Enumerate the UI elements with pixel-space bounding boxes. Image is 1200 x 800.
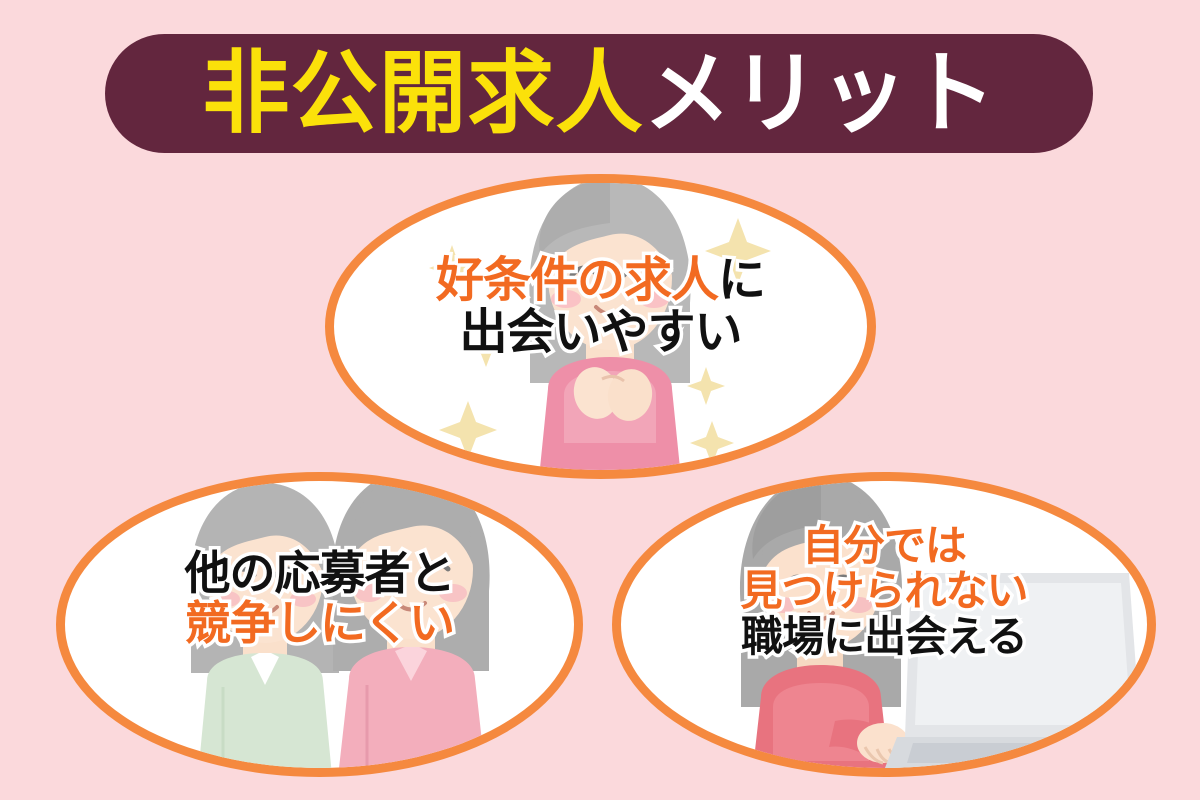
caption-line-2: 出会いやすい: [334, 307, 867, 359]
benefit-card-less-competition: 他の応募者と 競争しにくい: [56, 472, 583, 777]
caption-segment-orange: 自分では: [802, 522, 966, 569]
infographic-canvas: 非公開求人メリット: [0, 0, 1200, 800]
caption-segment-black: 出会いやすい: [459, 306, 741, 359]
caption-line-2: 見つけられない: [621, 568, 1147, 613]
caption-line-3: 職場に出会える: [621, 614, 1147, 659]
title-banner: 非公開求人メリット: [105, 34, 1093, 153]
caption-segment-black: 職場に出会える: [741, 613, 1027, 660]
page-title-primary: 非公開求人: [202, 49, 643, 139]
page-title: 非公開求人メリット: [202, 49, 996, 139]
caption-segment-orange: 競争しにくい: [185, 597, 454, 649]
benefit-caption-less-competition: 他の応募者と 競争しにくい: [65, 549, 574, 648]
caption-segment-black: に: [718, 254, 765, 307]
benefit-card-good-conditions: 好条件の求人に 出会いやすい: [325, 174, 876, 479]
caption-line-1: 他の応募者と: [65, 549, 574, 599]
caption-line-2: 競争しにくい: [65, 599, 574, 649]
caption-line-1: 自分では: [621, 523, 1147, 568]
benefit-card-hidden-workplaces: 自分では 見つけられない 職場に出会える: [612, 472, 1156, 777]
page-title-secondary: メリット: [643, 49, 996, 139]
caption-segment-orange: 見つけられない: [740, 567, 1027, 614]
caption-segment-orange: 好条件の求人: [436, 254, 718, 307]
benefit-caption-good-conditions: 好条件の求人に 出会いやすい: [334, 255, 867, 359]
caption-line-1: 好条件の求人に: [334, 255, 867, 307]
caption-segment-black: 他の応募者と: [185, 547, 455, 599]
benefit-caption-hidden-workplaces: 自分では 見つけられない 職場に出会える: [621, 523, 1147, 659]
